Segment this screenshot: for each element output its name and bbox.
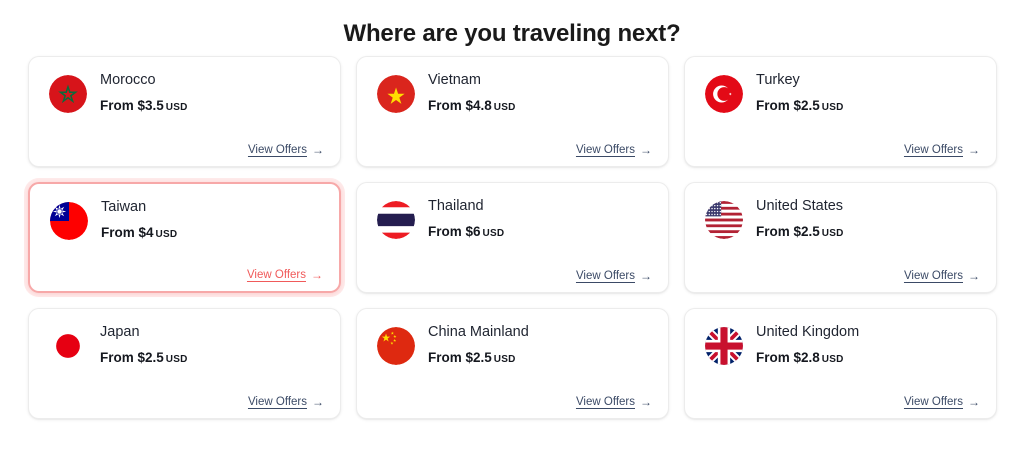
country-name: Japan [100, 323, 188, 341]
price-amount: From $3.5 [100, 98, 164, 113]
price-from: From $6USD [428, 224, 504, 242]
country-name: Taiwan [101, 198, 177, 216]
view-offers-link[interactable]: View Offers→ [904, 143, 980, 157]
price-currency: USD [156, 229, 178, 240]
arrow-right-icon: → [968, 269, 980, 283]
view-offers-link[interactable]: View Offers→ [576, 143, 652, 157]
price-amount: From $6 [428, 224, 481, 239]
view-offers-link[interactable]: View Offers→ [248, 143, 324, 157]
view-offers-link[interactable]: View Offers→ [576, 395, 652, 409]
flag-china-icon [377, 327, 415, 365]
arrow-right-icon: → [640, 395, 652, 409]
arrow-right-icon: → [968, 395, 980, 409]
card-header: United StatesFrom $2.5USD [685, 183, 996, 242]
destination-card[interactable]: JapanFrom $2.5USDView Offers→ [28, 308, 341, 419]
view-offers-label[interactable]: View Offers [248, 395, 307, 409]
view-offers-label[interactable]: View Offers [247, 268, 306, 282]
price-currency: USD [822, 228, 844, 239]
country-name: China Mainland [428, 323, 529, 341]
card-header: China MainlandFrom $2.5USD [357, 309, 668, 368]
view-offers-link[interactable]: View Offers→ [576, 269, 652, 283]
price-from: From $2.5USD [756, 98, 844, 116]
flag-taiwan-icon [50, 202, 88, 240]
price-currency: USD [822, 102, 844, 113]
price-amount: From $2.5 [756, 224, 820, 239]
view-offers-label[interactable]: View Offers [904, 269, 963, 283]
arrow-right-icon: → [311, 268, 323, 282]
card-text-block: ThailandFrom $6USD [428, 197, 504, 242]
card-header: TurkeyFrom $2.5USD [685, 57, 996, 116]
destination-card-grid: MoroccoFrom $3.5USDView Offers→VietnamFr… [0, 40, 1024, 419]
destination-card[interactable]: VietnamFrom $4.8USDView Offers→ [356, 56, 669, 167]
card-header: TaiwanFrom $4USD [30, 184, 339, 243]
price-currency: USD [494, 354, 516, 365]
country-name: Vietnam [428, 71, 516, 89]
destination-card[interactable]: TurkeyFrom $2.5USDView Offers→ [684, 56, 997, 167]
price-amount: From $4.8 [428, 98, 492, 113]
arrow-right-icon: → [312, 395, 324, 409]
arrow-right-icon: → [312, 143, 324, 157]
card-header: MoroccoFrom $3.5USD [29, 57, 340, 116]
card-text-block: VietnamFrom $4.8USD [428, 71, 516, 116]
price-amount: From $2.5 [428, 350, 492, 365]
card-text-block: China MainlandFrom $2.5USD [428, 323, 529, 368]
price-currency: USD [822, 354, 844, 365]
card-header: United KingdomFrom $2.8USD [685, 309, 996, 368]
view-offers-label[interactable]: View Offers [576, 269, 635, 283]
country-name: Thailand [428, 197, 504, 215]
arrow-right-icon: → [640, 143, 652, 157]
country-name: Morocco [100, 71, 188, 89]
price-currency: USD [166, 102, 188, 113]
price-from: From $3.5USD [100, 98, 188, 116]
destination-card[interactable]: United KingdomFrom $2.8USDView Offers→ [684, 308, 997, 419]
flag-united-kingdom-icon [705, 327, 743, 365]
flag-vietnam-icon [377, 75, 415, 113]
price-amount: From $2.5 [100, 350, 164, 365]
destination-card[interactable]: China MainlandFrom $2.5USDView Offers→ [356, 308, 669, 419]
price-amount: From $2.8 [756, 350, 820, 365]
flag-morocco-icon [49, 75, 87, 113]
destination-card[interactable]: TaiwanFrom $4USDView Offers→ [28, 182, 341, 293]
card-text-block: TurkeyFrom $2.5USD [756, 71, 844, 116]
price-currency: USD [166, 354, 188, 365]
price-amount: From $4 [101, 225, 154, 240]
card-header: JapanFrom $2.5USD [29, 309, 340, 368]
country-name: Turkey [756, 71, 844, 89]
destination-card[interactable]: ThailandFrom $6USDView Offers→ [356, 182, 669, 293]
card-text-block: MoroccoFrom $3.5USD [100, 71, 188, 116]
card-text-block: United StatesFrom $2.5USD [756, 197, 844, 242]
card-text-block: TaiwanFrom $4USD [101, 198, 177, 243]
card-header: VietnamFrom $4.8USD [357, 57, 668, 116]
view-offers-label[interactable]: View Offers [576, 143, 635, 157]
flag-united-states-icon [705, 201, 743, 239]
card-text-block: JapanFrom $2.5USD [100, 323, 188, 368]
view-offers-link[interactable]: View Offers→ [248, 395, 324, 409]
arrow-right-icon: → [640, 269, 652, 283]
country-name: United States [756, 197, 844, 215]
flag-thailand-icon [377, 201, 415, 239]
price-from: From $2.5USD [100, 350, 188, 368]
view-offers-link[interactable]: View Offers→ [904, 395, 980, 409]
country-name: United Kingdom [756, 323, 859, 341]
price-amount: From $2.5 [756, 98, 820, 113]
price-from: From $4.8USD [428, 98, 516, 116]
view-offers-label[interactable]: View Offers [248, 143, 307, 157]
view-offers-label[interactable]: View Offers [904, 143, 963, 157]
page-title: Where are you traveling next? [0, 0, 1024, 40]
destination-picker-page: Where are you traveling next? MoroccoFro… [0, 0, 1024, 468]
arrow-right-icon: → [968, 143, 980, 157]
destination-card[interactable]: United StatesFrom $2.5USDView Offers→ [684, 182, 997, 293]
price-from: From $2.5USD [756, 224, 844, 242]
card-text-block: United KingdomFrom $2.8USD [756, 323, 859, 368]
destination-card[interactable]: MoroccoFrom $3.5USDView Offers→ [28, 56, 341, 167]
view-offers-label[interactable]: View Offers [576, 395, 635, 409]
flag-turkey-icon [705, 75, 743, 113]
flag-japan-icon [49, 327, 87, 365]
price-currency: USD [494, 102, 516, 113]
price-from: From $4USD [101, 225, 177, 243]
view-offers-link[interactable]: View Offers→ [247, 268, 323, 282]
view-offers-link[interactable]: View Offers→ [904, 269, 980, 283]
price-from: From $2.8USD [756, 350, 859, 368]
card-header: ThailandFrom $6USD [357, 183, 668, 242]
view-offers-label[interactable]: View Offers [904, 395, 963, 409]
price-currency: USD [483, 228, 505, 239]
price-from: From $2.5USD [428, 350, 529, 368]
